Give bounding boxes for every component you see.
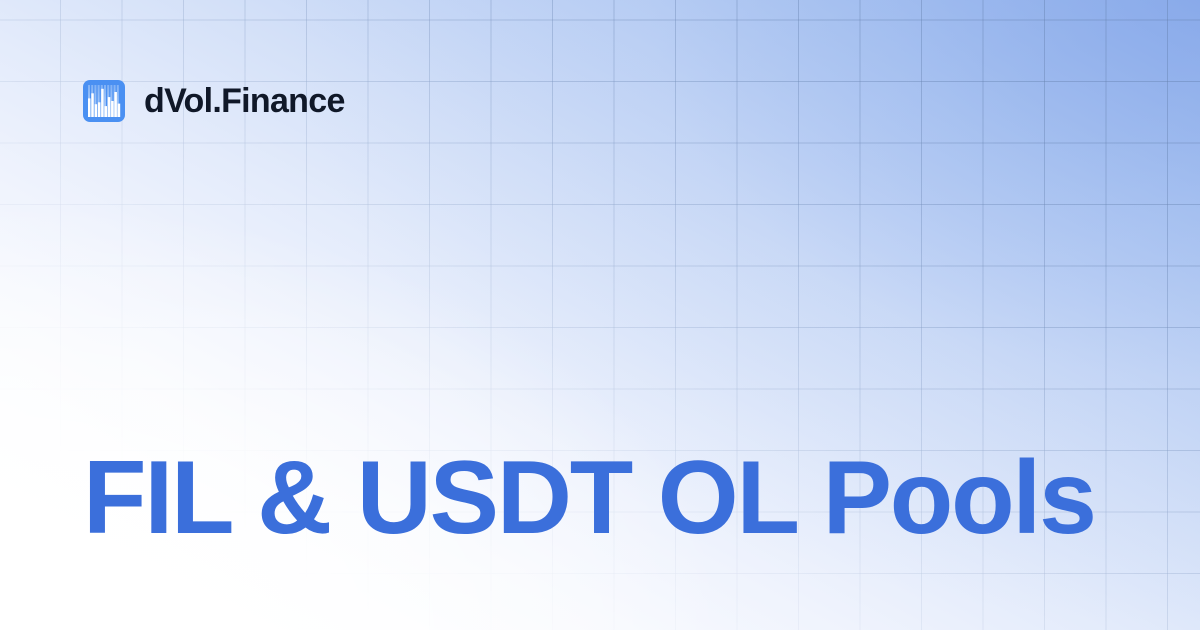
brand-name: dVol.Finance (144, 84, 345, 118)
card-content: dVol.Finance FIL & USDT OL Pools (0, 0, 1200, 630)
og-card: dVol.Finance FIL & USDT OL Pools (0, 0, 1200, 630)
page-title: FIL & USDT OL Pools (83, 443, 1123, 553)
bar-chart-icon (83, 80, 125, 122)
brand-lockup[interactable]: dVol.Finance (83, 80, 345, 122)
